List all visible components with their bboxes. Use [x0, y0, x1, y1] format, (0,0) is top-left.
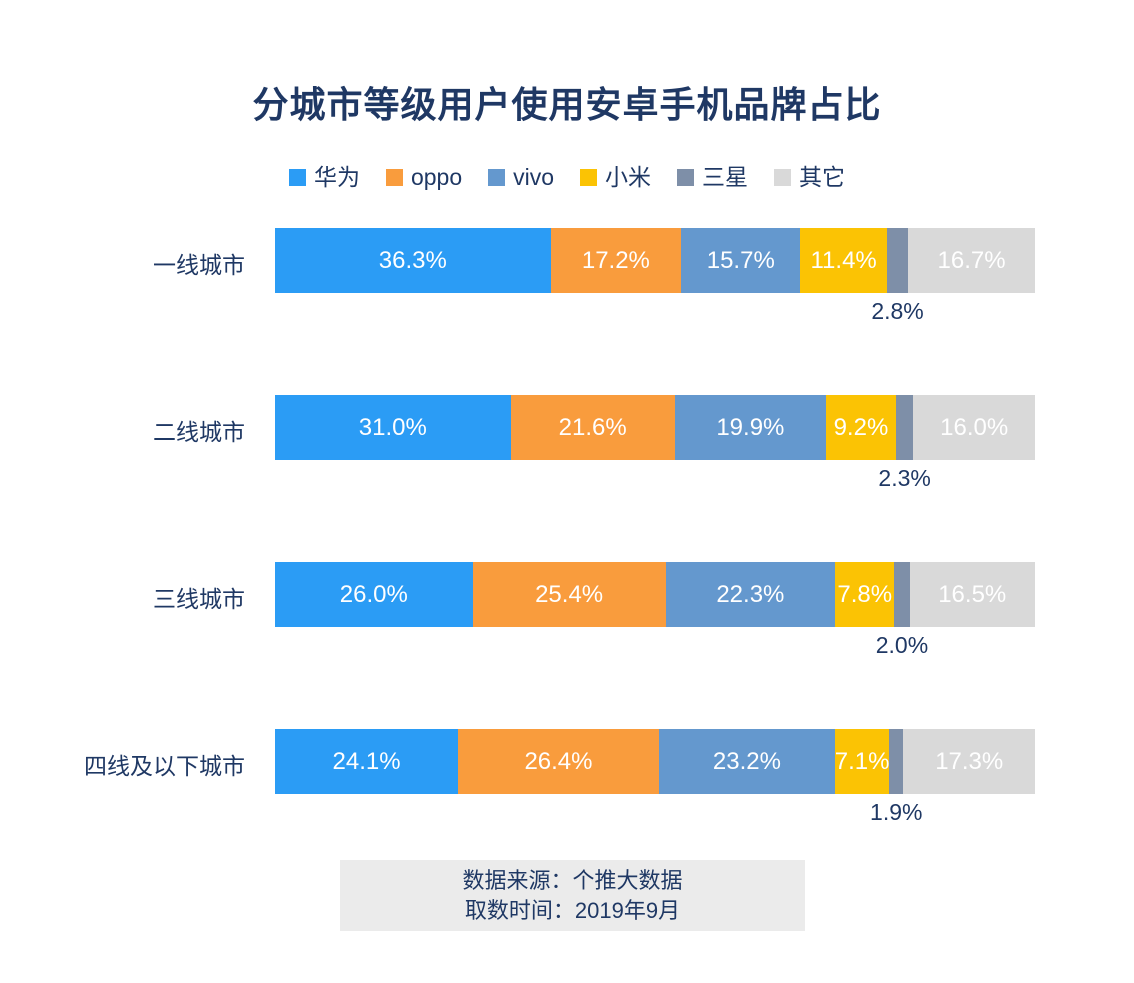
bar-segment-华为[interactable]: 31.0% [275, 395, 511, 460]
category-label: 三线城市 [0, 580, 245, 614]
bar-segment-value: 26.4% [524, 750, 592, 774]
bar-segment-value: 24.1% [333, 750, 401, 774]
category-label: 一线城市 [0, 246, 245, 280]
stacked-bar: 31.0%21.6%19.9%9.2%2.3%16.0% [275, 395, 1035, 460]
bar-segment-value: 2.3% [878, 467, 930, 490]
bar-segment-value: 15.7% [707, 249, 775, 273]
bar-segment-value: 16.5% [938, 583, 1006, 607]
bar-segment-华为[interactable]: 24.1% [275, 729, 458, 794]
chart-plot-area: 一线城市36.3%17.2%15.7%11.4%2.8%16.7%二线城市31.… [0, 228, 1134, 896]
bar-segment-小米[interactable]: 7.8% [835, 562, 894, 627]
legend-swatch-icon [580, 169, 597, 186]
legend-item-label: oppo [411, 166, 462, 189]
legend-item-oppo[interactable]: oppo [386, 166, 462, 189]
bar-segment-vivo[interactable]: 22.3% [666, 562, 835, 627]
bar-segment-value: 11.4% [810, 249, 876, 273]
footnote-source: 数据来源：个推大数据 [462, 866, 682, 896]
bar-segment-value: 23.2% [713, 750, 781, 774]
legend-item-label: 三星 [702, 166, 748, 189]
legend-swatch-icon [677, 169, 694, 186]
bar-segment-value: 22.3% [716, 583, 784, 607]
bar-segment-vivo[interactable]: 19.9% [675, 395, 826, 460]
stacked-bar: 26.0%25.4%22.3%7.8%2.0%16.5% [275, 562, 1035, 627]
stacked-bar: 36.3%17.2%15.7%11.4%2.8%16.7% [275, 228, 1035, 293]
legend-item-label: vivo [513, 166, 554, 189]
bar-row: 一线城市36.3%17.2%15.7%11.4%2.8%16.7% [0, 228, 1134, 395]
bar-segment-三星[interactable]: 1.9% [889, 729, 903, 794]
bar-segment-value: 7.1% [835, 750, 890, 774]
bar-segment-value: 26.0% [340, 583, 408, 607]
bar-segment-value: 2.0% [876, 634, 928, 657]
bar-segment-value: 21.6% [559, 416, 627, 440]
legend-item-其它[interactable]: 其它 [774, 166, 845, 189]
bar-segment-oppo[interactable]: 26.4% [458, 729, 659, 794]
bar-segment-华为[interactable]: 36.3% [275, 228, 551, 293]
bar-segment-其它[interactable]: 17.3% [903, 729, 1034, 794]
legend-item-label: 华为 [314, 166, 360, 189]
category-label: 二线城市 [0, 413, 245, 447]
bar-segment-value: 36.3% [379, 249, 447, 273]
bar-segment-oppo[interactable]: 21.6% [511, 395, 675, 460]
bar-segment-value: 9.2% [834, 416, 889, 440]
legend-item-label: 小米 [605, 166, 651, 189]
legend-item-华为[interactable]: 华为 [289, 166, 360, 189]
legend-swatch-icon [488, 169, 505, 186]
bar-segment-小米[interactable]: 9.2% [826, 395, 896, 460]
stacked-bar: 24.1%26.4%23.2%7.1%1.9%17.3% [275, 729, 1035, 794]
bar-segment-其它[interactable]: 16.5% [910, 562, 1035, 627]
bar-row: 二线城市31.0%21.6%19.9%9.2%2.3%16.0% [0, 395, 1134, 562]
bar-segment-三星[interactable]: 2.0% [894, 562, 909, 627]
bar-segment-其它[interactable]: 16.7% [908, 228, 1035, 293]
legend-item-label: 其它 [799, 166, 845, 189]
bar-segment-其它[interactable]: 16.0% [913, 395, 1035, 460]
legend-swatch-icon [774, 169, 791, 186]
bar-segment-value: 7.8% [837, 583, 892, 607]
bar-segment-三星[interactable]: 2.8% [887, 228, 908, 293]
bar-segment-vivo[interactable]: 23.2% [659, 729, 835, 794]
footnote-box: 数据来源：个推大数据 取数时间：2019年9月 [340, 860, 805, 931]
legend-item-vivo[interactable]: vivo [488, 166, 554, 189]
bar-segment-vivo[interactable]: 15.7% [681, 228, 800, 293]
bar-segment-value: 17.3% [935, 750, 1003, 774]
legend-item-三星[interactable]: 三星 [677, 166, 748, 189]
bar-segment-value: 16.7% [938, 249, 1006, 273]
footnote-date: 取数时间：2019年9月 [465, 896, 680, 926]
legend-item-小米[interactable]: 小米 [580, 166, 651, 189]
bar-segment-value: 19.9% [716, 416, 784, 440]
page-title: 分城市等级用户使用安卓手机品牌占比 [0, 76, 1134, 128]
bar-segment-value: 17.2% [582, 249, 650, 273]
bar-segment-value: 1.9% [870, 801, 922, 824]
chart-legend: 华为oppovivo小米三星其它 [0, 166, 1134, 189]
legend-swatch-icon [289, 169, 306, 186]
bar-segment-value: 16.0% [940, 416, 1008, 440]
bar-segment-value: 31.0% [359, 416, 427, 440]
bar-segment-oppo[interactable]: 25.4% [473, 562, 666, 627]
bar-segment-value: 2.8% [871, 300, 923, 323]
category-label: 四线及以下城市 [0, 747, 245, 781]
legend-swatch-icon [386, 169, 403, 186]
bar-segment-三星[interactable]: 2.3% [896, 395, 913, 460]
bar-segment-小米[interactable]: 7.1% [835, 729, 889, 794]
bar-segment-value: 25.4% [535, 583, 603, 607]
bar-segment-小米[interactable]: 11.4% [800, 228, 887, 293]
bar-segment-oppo[interactable]: 17.2% [551, 228, 682, 293]
bar-row: 三线城市26.0%25.4%22.3%7.8%2.0%16.5% [0, 562, 1134, 729]
bar-segment-华为[interactable]: 26.0% [275, 562, 473, 627]
